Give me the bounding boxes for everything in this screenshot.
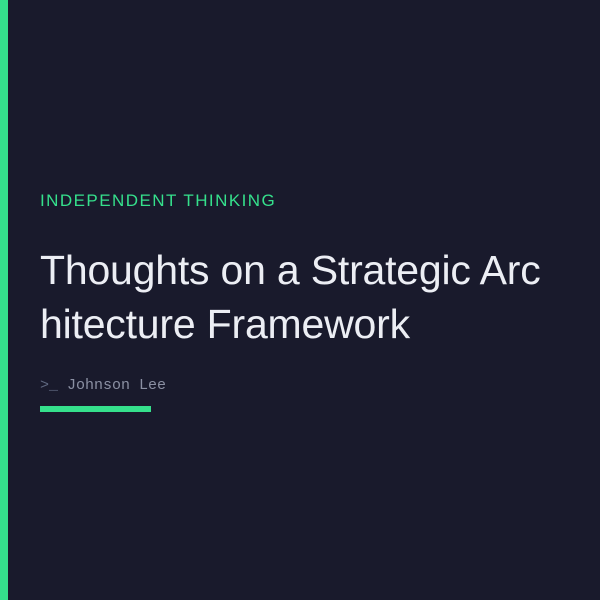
page-title: Thoughts on a Strategic Architecture Fra… — [40, 243, 560, 351]
terminal-prompt-icon: >_ — [40, 377, 58, 394]
author-name: Johnson Lee — [58, 377, 166, 394]
card-content: INDEPENDENT THINKING Thoughts on a Strat… — [40, 190, 560, 412]
byline: >_ Johnson Lee — [40, 377, 560, 395]
left-accent-stripe — [0, 0, 8, 600]
title-wrapper: Thoughts on a Strategic Architecture Fra… — [40, 243, 560, 351]
category-eyebrow: INDEPENDENT THINKING — [40, 190, 560, 212]
article-title-card: INDEPENDENT THINKING Thoughts on a Strat… — [0, 0, 600, 600]
accent-underline-bar — [40, 406, 151, 412]
